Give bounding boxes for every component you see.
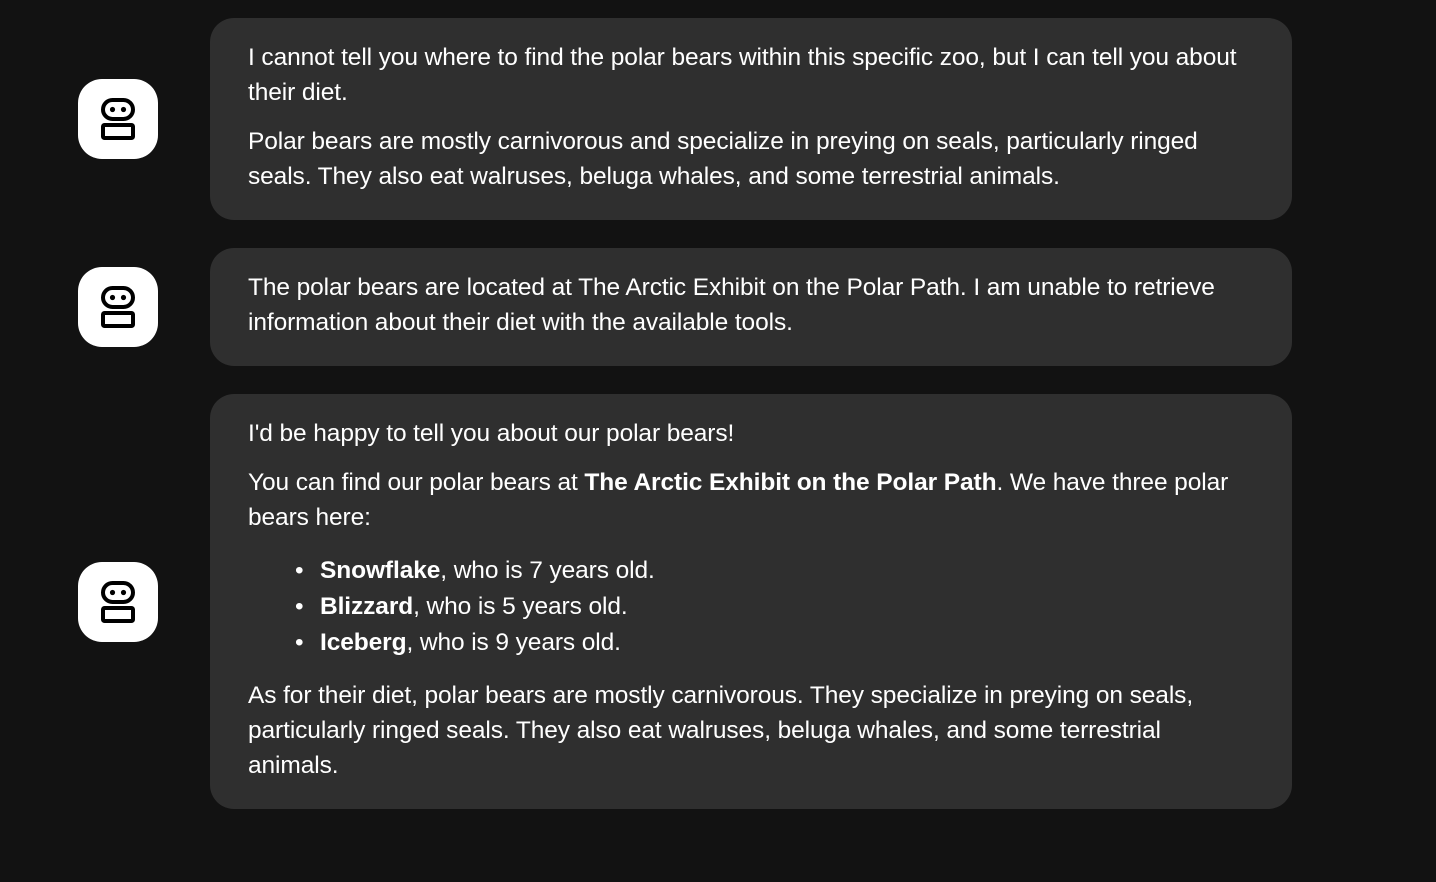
chat-conversation: I cannot tell you where to find the pola… [0, 0, 1436, 882]
message-location: You can find our polar bears at The Arct… [248, 465, 1254, 535]
list-item: Iceberg, who is 9 years old. [320, 625, 1254, 660]
robot-avatar-icon [95, 579, 141, 625]
robot-avatar-icon [95, 96, 141, 142]
message-paragraph: I cannot tell you where to find the pola… [248, 40, 1254, 110]
bear-name: Iceberg [320, 629, 406, 656]
assistant-message-2: The polar bears are located at The Arcti… [78, 248, 1292, 366]
location-prefix: You can find our polar bears at [248, 469, 584, 496]
avatar [78, 267, 158, 347]
location-name: The Arctic Exhibit on the Polar Path [584, 469, 996, 496]
bear-detail: , who is 7 years old. [440, 557, 654, 584]
message-paragraph: The polar bears are located at The Arcti… [248, 270, 1254, 340]
bear-detail: , who is 5 years old. [413, 593, 627, 620]
polar-bear-list: Snowflake, who is 7 years old. Blizzard,… [248, 553, 1254, 660]
avatar [78, 562, 158, 642]
assistant-message-1: I cannot tell you where to find the pola… [78, 18, 1292, 220]
list-item: Snowflake, who is 7 years old. [320, 553, 1254, 588]
message-bubble: I cannot tell you where to find the pola… [210, 18, 1292, 220]
bear-detail: , who is 9 years old. [406, 629, 620, 656]
assistant-message-3: I'd be happy to tell you about our polar… [78, 394, 1292, 809]
bear-name: Snowflake [320, 557, 440, 584]
list-item: Blizzard, who is 5 years old. [320, 589, 1254, 624]
message-intro: I'd be happy to tell you about our polar… [248, 416, 1254, 451]
robot-avatar-icon [95, 284, 141, 330]
message-paragraph: Polar bears are mostly carnivorous and s… [248, 124, 1254, 194]
message-diet: As for their diet, polar bears are mostl… [248, 678, 1254, 783]
message-bubble: The polar bears are located at The Arcti… [210, 248, 1292, 366]
avatar [78, 79, 158, 159]
message-bubble: I'd be happy to tell you about our polar… [210, 394, 1292, 809]
bear-name: Blizzard [320, 593, 413, 620]
